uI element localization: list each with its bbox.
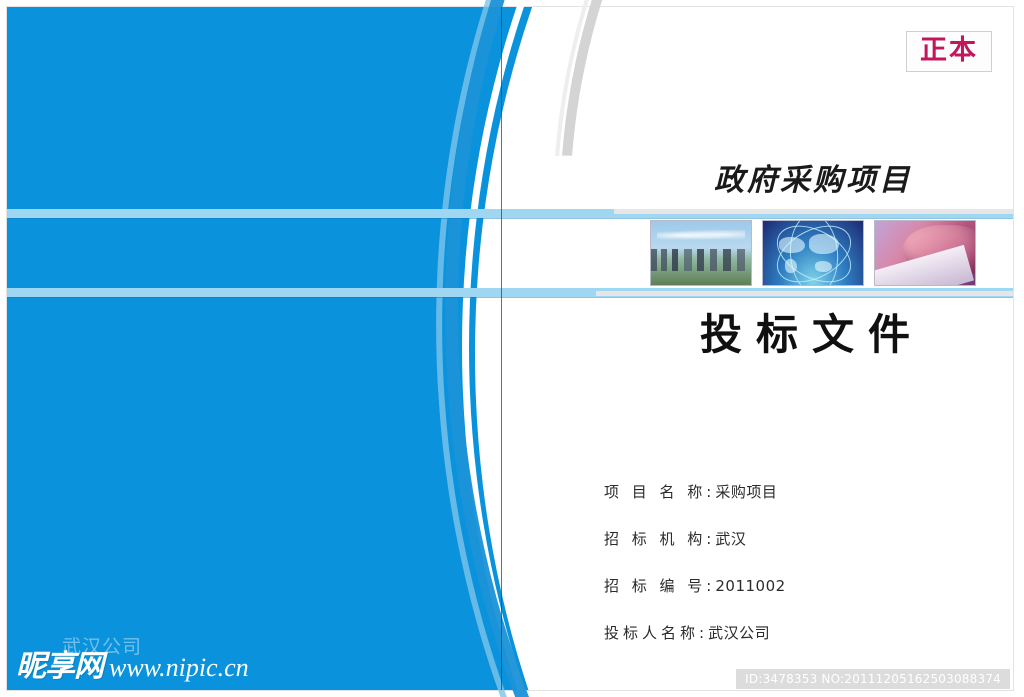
globe-network-photo <box>762 220 864 286</box>
field-value: 2011002 <box>715 577 785 595</box>
field-label: 投标人名称: <box>604 624 708 642</box>
continent-shape <box>779 237 805 253</box>
continent-shape <box>785 259 797 273</box>
field-label: 招 标 机 构: <box>604 530 715 548</box>
field-value: 采购项目 <box>715 483 777 501</box>
image-id-bar: ID:3478353 NO:20111205162503088374 <box>736 669 1010 689</box>
front-cover-content: 正本 政府采购项目 投标文件 项 目 名 称:采购项目 招 标 机 构:武汉 <box>0 0 1024 697</box>
page-title-sub: 投标文件 <box>700 301 924 362</box>
field-tender-number: 招 标 编 号:2011002 <box>604 575 786 596</box>
field-label: 招 标 编 号: <box>604 577 715 595</box>
cover-field-list: 项 目 名 称:采购项目 招 标 机 构:武汉 招 标 编 号:2011002 … <box>604 481 786 643</box>
field-bidder-name: 投标人名称:武汉公司 <box>604 622 786 643</box>
bid-document-cover: 正本 政府采购项目 投标文件 项 目 名 称:采购项目 招 标 机 构:武汉 <box>0 0 1024 697</box>
thumbnail-strip <box>650 220 976 286</box>
original-copy-stamp: 正本 <box>906 31 992 72</box>
field-value: 武汉 <box>715 530 746 548</box>
field-project-name: 项 目 名 称:采购项目 <box>604 481 786 502</box>
cityscape-photo <box>650 220 752 286</box>
page-title-main: 政府采购项目 <box>714 155 912 199</box>
field-label: 项 目 名 称: <box>604 483 715 501</box>
field-value: 武汉公司 <box>708 624 770 642</box>
continent-shape <box>815 261 832 272</box>
continent-shape <box>809 234 839 254</box>
field-tender-agency: 招 标 机 构:武汉 <box>604 528 786 549</box>
hand-mouse-photo <box>874 220 976 286</box>
